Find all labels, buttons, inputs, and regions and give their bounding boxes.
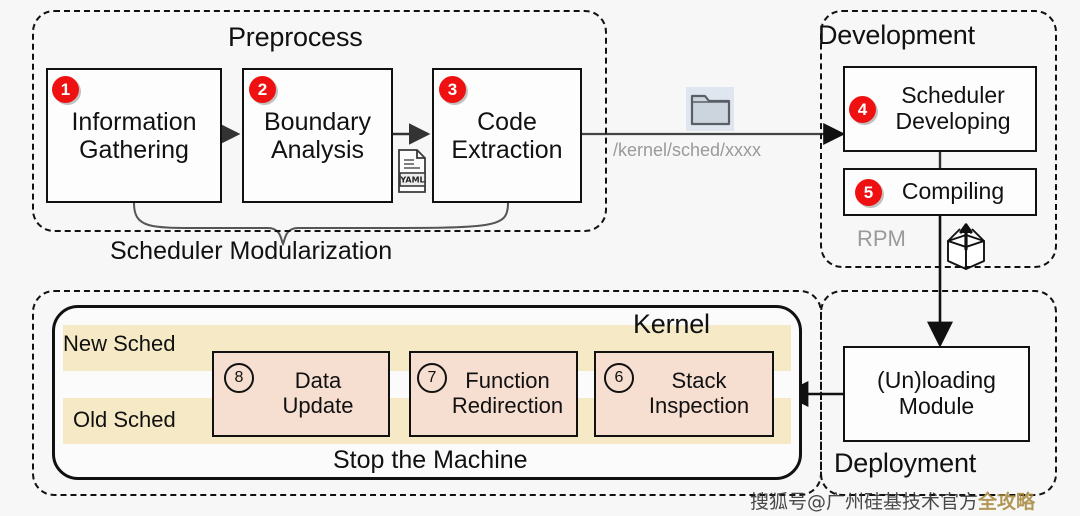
badge-8: 8: [224, 363, 254, 393]
badge-2: 2: [249, 76, 276, 103]
node-compiling-line1: Compiling: [902, 179, 1004, 205]
label-old-sched: Old Sched: [73, 407, 176, 433]
diagram-canvas: YAML Preprocess Information Gathering 1 …: [0, 0, 1080, 516]
label-new-sched: New Sched: [63, 331, 176, 357]
badge-3: 3: [439, 76, 466, 103]
node-code-extraction-line1: Code: [451, 108, 562, 136]
node-code-extraction-line2: Extraction: [451, 136, 562, 164]
watermark-suffix: 全攻略: [978, 491, 1035, 513]
node-unloading-module-line1: (Un)loading: [877, 368, 996, 394]
node-data-update-line1: Data: [283, 369, 354, 394]
node-boundary-analysis-line1: Boundary: [264, 108, 371, 136]
node-function-redirection-line2: Redirection: [452, 394, 563, 419]
node-data-update-line2: Update: [283, 394, 354, 419]
node-information-gathering-line2: Gathering: [71, 136, 196, 164]
phase-development-title: Development: [818, 20, 975, 51]
label-stop-the-machine: Stop the Machine: [333, 446, 528, 475]
node-information-gathering-line1: Information: [71, 108, 196, 136]
watermark-text: 搜狐号@广州硅基技术官方: [750, 491, 978, 513]
badge-1: 1: [52, 76, 79, 103]
phase-preprocess-title: Preprocess: [228, 22, 363, 53]
node-unloading-module-line2: Module: [877, 394, 996, 420]
label-scheduler-modularization: Scheduler Modularization: [110, 237, 392, 266]
badge-7: 7: [417, 363, 447, 393]
watermark: 搜狐号@广州硅基技术官方全攻略: [750, 487, 1035, 514]
node-unloading-module[interactable]: (Un)loading Module: [843, 346, 1030, 442]
label-rpm: RPM: [857, 226, 906, 252]
node-boundary-analysis-line2: Analysis: [264, 136, 371, 164]
node-scheduler-developing-line2: Developing: [895, 109, 1010, 135]
node-stack-inspection-line2: Inspection: [649, 394, 749, 419]
badge-6: 6: [604, 363, 634, 393]
badge-5: 5: [855, 179, 882, 206]
label-kernel-path: /kernel/sched/xxxx: [613, 140, 761, 161]
phase-kernel-title: Kernel: [633, 309, 710, 340]
phase-deployment-title: Deployment: [834, 448, 976, 479]
badge-4: 4: [849, 96, 876, 123]
node-stack-inspection-line1: Stack: [649, 369, 749, 394]
folder-icon: [686, 87, 734, 131]
node-scheduler-developing-line1: Scheduler: [895, 83, 1010, 109]
node-function-redirection-line1: Function: [452, 369, 563, 394]
